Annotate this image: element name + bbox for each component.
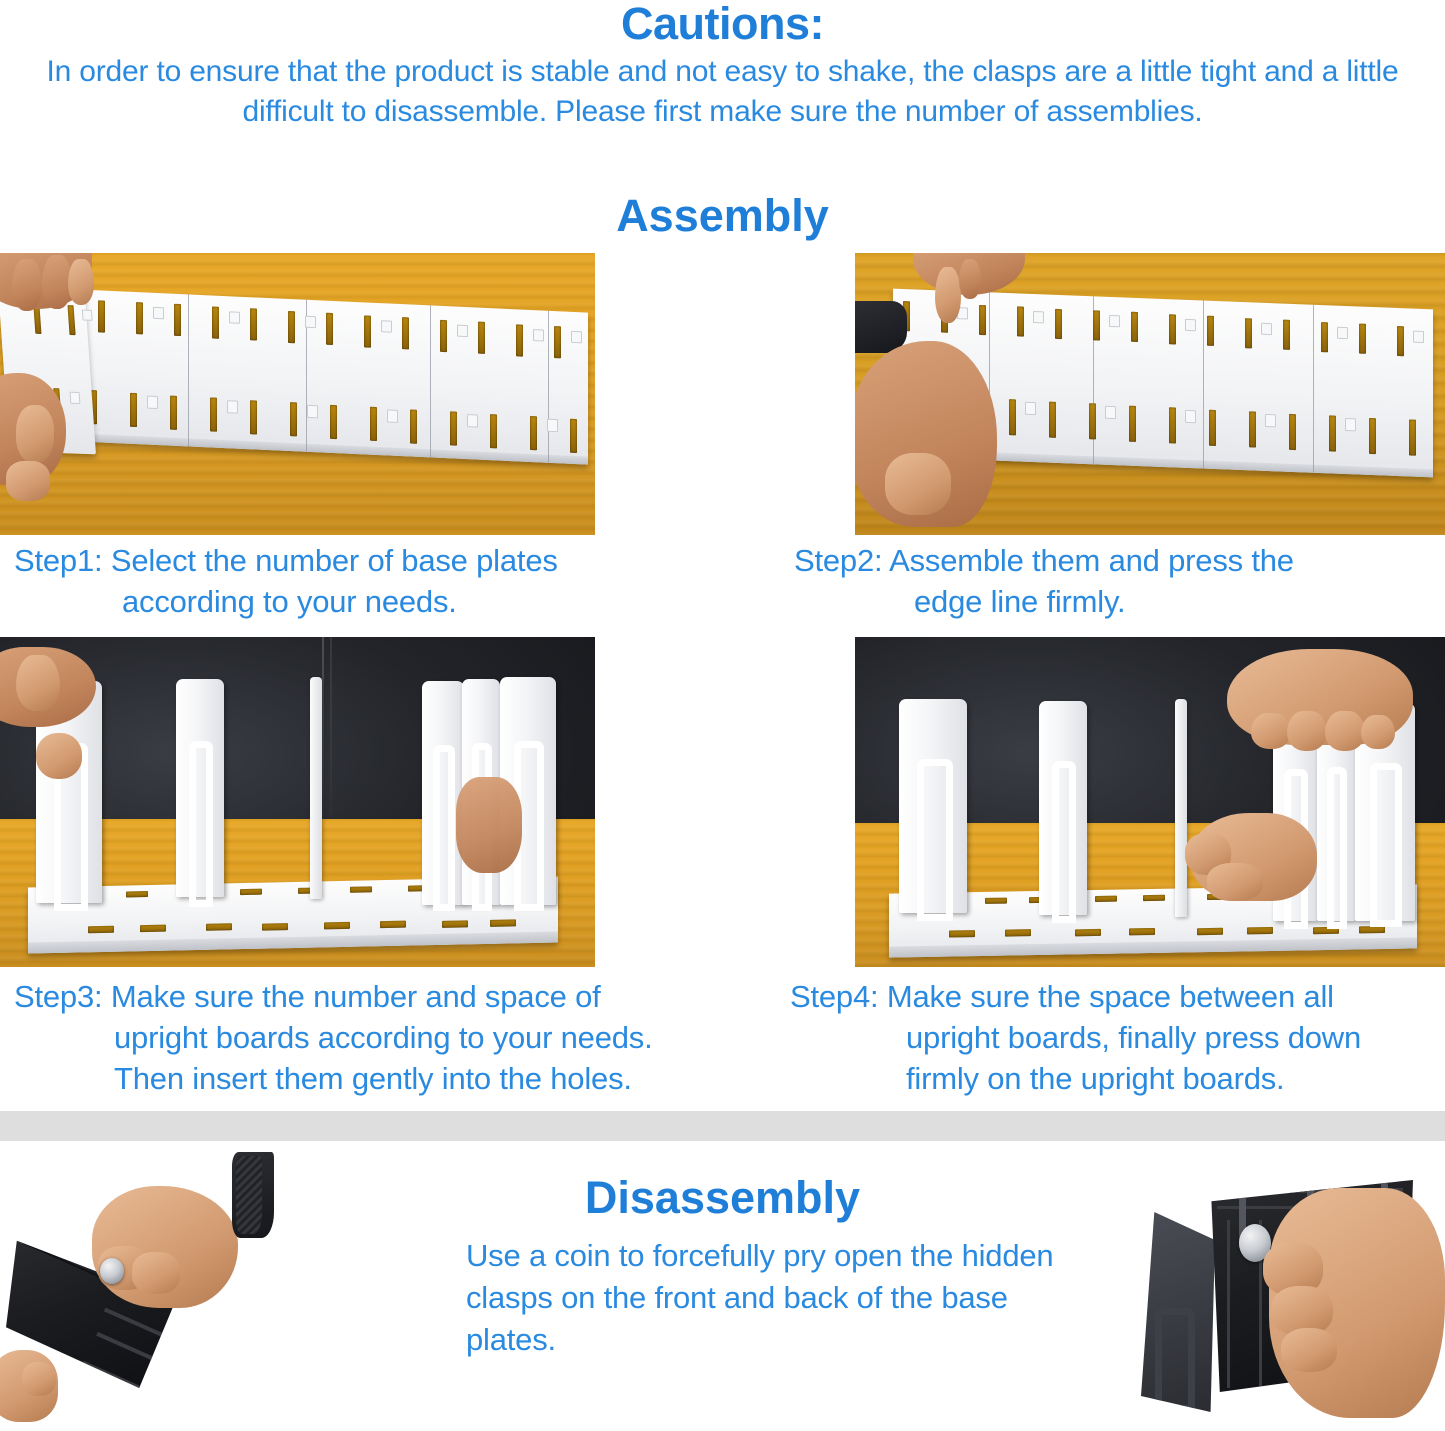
step3-photo (0, 637, 595, 967)
sleeve-knit-texture (236, 1156, 262, 1234)
disassembly-left-photo (0, 1150, 340, 1431)
step4-photo (855, 637, 1445, 967)
section-divider (0, 1111, 1445, 1141)
step2-caption: Step2: Assemble them and press the edge … (794, 540, 1414, 622)
disassembly-line-1: Use a coin to forcefully pry open the (466, 1238, 953, 1273)
upright-board (176, 679, 224, 897)
disassembly-body: Use a coin to forcefully pry open the hi… (466, 1235, 1066, 1361)
step2-line-1: Step2: Assemble them and press the (794, 540, 1414, 581)
assembly-heading: Assembly (0, 190, 1445, 242)
upright-board (899, 699, 967, 913)
step4-line-2: upright boards, finally press down (790, 1017, 1440, 1058)
step1-caption: Step1: Select the number of base plates … (14, 540, 654, 622)
upright-board (422, 681, 464, 905)
step4-caption: Step4: Make sure the space between all u… (790, 976, 1440, 1099)
step1-photo (0, 253, 595, 535)
upright-board (310, 677, 322, 899)
coin (100, 1258, 124, 1284)
cautions-body: In order to ensure that the product is s… (22, 52, 1423, 132)
upright-board (1039, 701, 1087, 915)
step3-line-2: upright boards according to your needs. (14, 1017, 754, 1058)
step3-line-3: Then insert them gently into the holes. (14, 1058, 754, 1099)
cautions-title: Cautions: (0, 0, 1445, 50)
black-upright-board (1141, 1212, 1215, 1412)
step1-line-2: according to your needs. (14, 581, 654, 622)
step1-line-1: Step1: Select the number of base plates (14, 540, 654, 581)
step3-line-1: Step3: Make sure the number and space of (14, 976, 754, 1017)
step2-photo (855, 253, 1445, 535)
instruction-sheet: Cautions: In order to ensure that the pr… (0, 0, 1445, 1431)
step3-caption: Step3: Make sure the number and space of… (14, 976, 754, 1099)
upright-board (1175, 699, 1187, 917)
step4-line-3: firmly on the upright boards. (790, 1058, 1440, 1099)
step2-line-2: edge line firmly. (794, 581, 1414, 622)
step4-line-1: Step4: Make sure the space between all (790, 976, 1440, 1017)
disassembly-right-photo (1105, 1150, 1445, 1431)
